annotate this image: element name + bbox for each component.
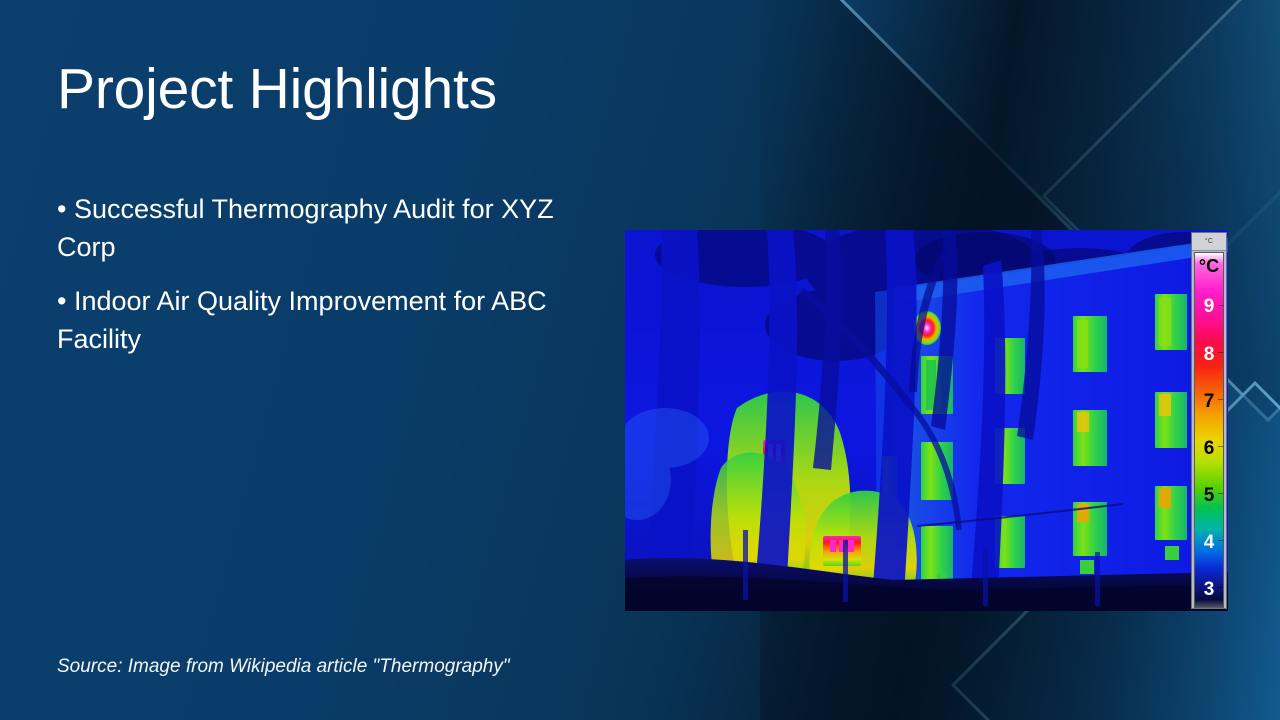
source-caption: Source: Image from Wikipedia article "Th…	[57, 656, 510, 678]
scale-label-unit: °C	[1195, 257, 1223, 275]
scale-tick	[1218, 305, 1223, 306]
scale-tick	[1218, 399, 1223, 400]
scale-tick	[1218, 493, 1223, 494]
thermal-image-canvas	[625, 230, 1228, 611]
scale-label-5: 5	[1195, 486, 1223, 505]
scale-label-4: 4	[1195, 533, 1223, 552]
scale-tick	[1218, 587, 1223, 588]
scale-label-9: 9	[1195, 297, 1223, 316]
scale-tick	[1218, 540, 1223, 541]
scale-tick	[1218, 352, 1223, 353]
scale-label-7: 7	[1195, 392, 1223, 411]
scale-color-ramp: °C 9 8 7 6 5 4 3	[1194, 252, 1224, 608]
scale-label-6: 6	[1195, 439, 1223, 458]
scale-label-8: 8	[1195, 345, 1223, 364]
scale-label-3: 3	[1195, 580, 1223, 599]
page-title: Project Highlights	[57, 57, 497, 123]
list-item: • Successful Thermography Audit for XYZ …	[57, 190, 602, 266]
scale-unit-header: °C	[1192, 233, 1226, 251]
thermal-image-graphic	[625, 230, 1228, 611]
scale-tick	[1218, 446, 1223, 447]
thermal-image: °C °C 9 8 7 6 5 4 3	[625, 230, 1228, 611]
slide-project-highlights: Project Highlights • Successful Thermogr…	[0, 0, 1280, 720]
bullet-list: • Successful Thermography Audit for XYZ …	[57, 190, 602, 374]
temperature-scale: °C °C 9 8 7 6 5 4 3	[1191, 232, 1227, 609]
list-item: • Indoor Air Quality Improvement for ABC…	[57, 282, 602, 358]
